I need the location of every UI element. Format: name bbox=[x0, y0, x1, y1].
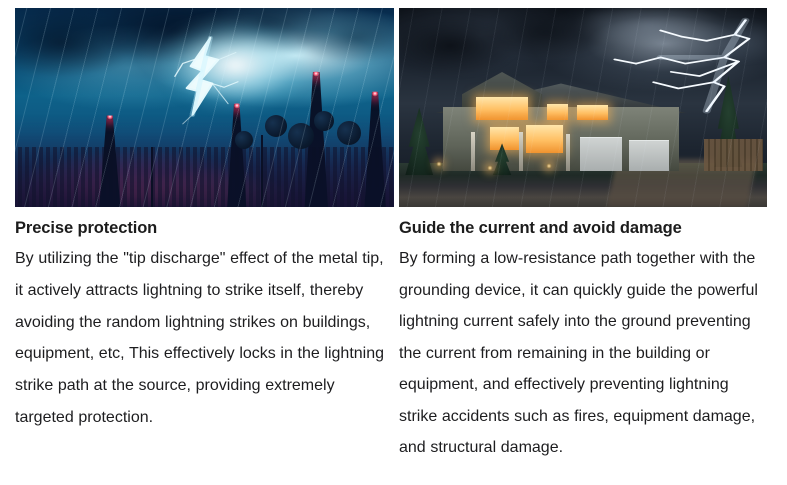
card-body-text: By forming a low-resistance path togethe… bbox=[399, 243, 767, 464]
card-guide-the-current: Guide the current and avoid damage By fo… bbox=[399, 8, 767, 464]
feature-cards-page: Precise protection By utilizing the "tip… bbox=[0, 0, 787, 485]
card-body-text: By utilizing the "tip discharge" effect … bbox=[15, 243, 394, 434]
house-in-thunderstorm-photo bbox=[399, 8, 767, 207]
card-title: Guide the current and avoid damage bbox=[399, 218, 767, 238]
rain-streaks-overlay bbox=[15, 8, 394, 207]
card-title: Precise protection bbox=[15, 218, 394, 238]
card-precise-protection: Precise protection By utilizing the "tip… bbox=[15, 8, 394, 464]
lightning-over-city-towers-photo bbox=[15, 8, 394, 207]
cards-row: Precise protection By utilizing the "tip… bbox=[0, 0, 787, 464]
rain-streaks-overlay bbox=[399, 8, 767, 207]
